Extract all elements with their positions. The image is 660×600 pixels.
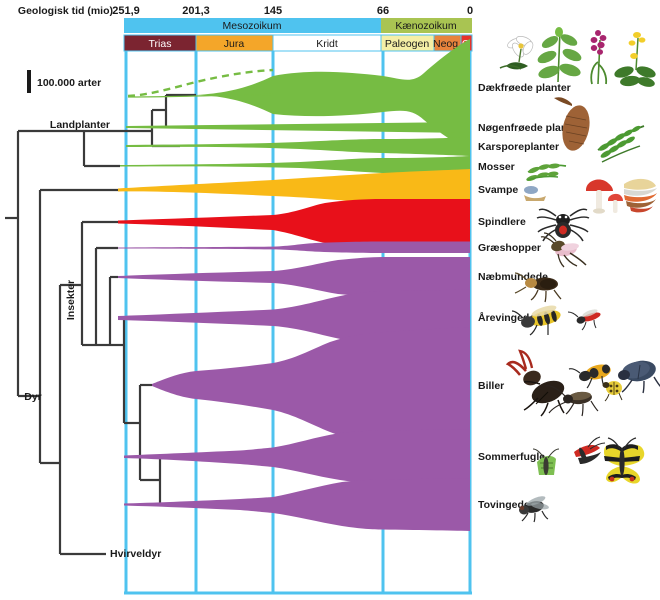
- taxon-label-mosser: Mosser: [478, 161, 515, 173]
- red-moth-icon: [574, 437, 605, 464]
- spindle-spindlere: [118, 199, 470, 246]
- spindle-tovingede: [124, 478, 470, 531]
- moss-icon: [526, 163, 566, 182]
- period-label-trias: Trias: [149, 38, 172, 50]
- spider-icon: [537, 209, 589, 241]
- spindle-body-nogenfroede: [126, 122, 470, 133]
- tick-label-4: 0: [467, 5, 473, 17]
- scale-bar-label: 100.000 arter: [37, 77, 101, 89]
- spindle-karsporeplanter: [126, 137, 470, 156]
- hymenoptera-icon: [512, 303, 602, 335]
- spindle-sommerfugle: [124, 429, 470, 485]
- beetles-icon: [508, 351, 660, 416]
- orchid-plant-icon: [591, 30, 607, 84]
- taxon-label-karsporeplanter: Karsporeplanter: [478, 141, 559, 153]
- lepidoptera-icon: [533, 437, 644, 484]
- tick-label-2: 145: [264, 5, 282, 17]
- sawfly-icon: [568, 308, 602, 330]
- taxon-label-graeshopper: Græshopper: [478, 242, 541, 254]
- taxon-label-svampe: Svampe: [478, 184, 518, 196]
- node-label-dyr: Dyr: [24, 391, 42, 403]
- era-label-mesozoikum: Mesozoikum: [223, 20, 282, 32]
- period-bar: Trias Jura Kridt Paleogen Neog. Q: [124, 35, 472, 51]
- spindle-body-sommerfugle: [124, 429, 470, 485]
- era-bar: Mesozoikum Kænozoikum: [124, 18, 472, 33]
- spindle-body-spindlere: [118, 199, 470, 246]
- scale-bar-mark: [27, 70, 31, 93]
- illustration-flowering-plants: [500, 27, 657, 89]
- primrose-plant-icon: [613, 32, 657, 89]
- cladogram-branches: [5, 95, 196, 554]
- stag-beetle-icon: [508, 351, 568, 416]
- round-beetle-icon: [603, 381, 623, 401]
- era-label-kaenozoikum: Kænozoikum: [395, 20, 457, 32]
- fern-icon: [598, 125, 644, 162]
- spindle-biller: [152, 327, 470, 448]
- scale-bar: 100.000 arter: [27, 70, 101, 93]
- spindle-body-karsporeplanter: [126, 137, 470, 156]
- spindle-body-biller: [152, 327, 470, 448]
- taxon-label-biller: Biller: [478, 380, 504, 392]
- taxon-label-daekfroede-planter: Dækfrøede planter: [478, 82, 571, 94]
- period-label-paleogen: Paleogen: [385, 38, 430, 50]
- fungi-icon: [524, 179, 657, 214]
- spindle-daekfroede-planter: [128, 39, 470, 152]
- swallowtail-butterfly-icon: [604, 438, 644, 484]
- blue-beetle-icon: [617, 358, 660, 393]
- axis-title: Geologisk tid (mio): [18, 5, 113, 17]
- spindle-nogenfroede-planter: [126, 122, 470, 133]
- grasshopper-icon: [541, 233, 586, 267]
- tick-label-3: 66: [377, 5, 389, 17]
- spindle-graeshopper: [118, 242, 470, 254]
- tick-label-0: 251,9: [112, 5, 140, 17]
- tick-label-1: 201,3: [182, 5, 210, 17]
- bracket-fungus-icon: [624, 179, 657, 212]
- spindle-body-graeshopper: [118, 242, 470, 254]
- taxon-label-sommerfugle: Sommerfugle: [478, 451, 545, 463]
- node-label-landplanter: Landplanter: [50, 119, 110, 131]
- period-label-jura: Jura: [224, 38, 245, 50]
- nettle-plant-icon: [536, 27, 583, 82]
- phylogeny-diagram: Geologisk tid (mio) 251,9 201,3 145 66 0…: [0, 0, 660, 600]
- node-label-hvirveldyr: Hvirveldyr: [110, 548, 161, 560]
- taxon-label-spindlere: Spindlere: [478, 216, 526, 228]
- spindle-body-tovingede: [124, 478, 470, 531]
- node-label-insekter: Insekter: [65, 280, 77, 320]
- period-label-kridt: Kridt: [316, 38, 338, 50]
- anemone-flower-icon: [500, 35, 535, 70]
